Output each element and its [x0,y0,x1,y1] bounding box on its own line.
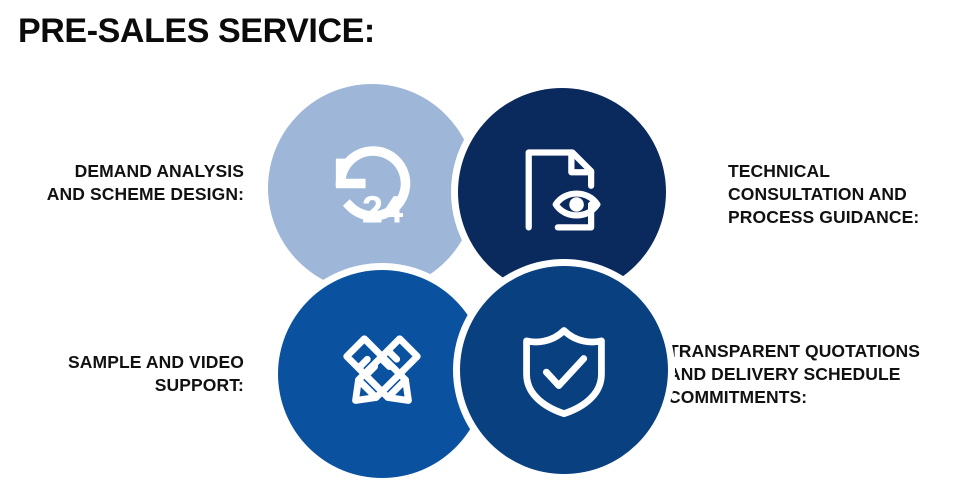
circle-transparent-quotations[interactable] [460,266,668,474]
page-title: PRE-SALES SERVICE: [18,12,375,51]
shield-check-icon [512,318,616,422]
label-demand-analysis: DEMAND ANALYSIS AND SCHEME DESIGN: [0,160,244,206]
crossed-pens-icon [330,322,434,426]
circle-sample-video-support[interactable] [278,270,486,478]
circle-cluster: 24 [268,84,668,482]
svg-text:24: 24 [362,190,403,232]
label-sample-video-support: SAMPLE AND VIDEO SUPPORT: [0,351,244,397]
circle-demand-analysis[interactable]: 24 [268,84,476,292]
label-technical-consultation: TECHNICAL CONSULTATION AND PROCESS GUIDA… [728,160,960,229]
document-eye-icon [510,140,614,244]
circle-technical-consultation[interactable] [458,88,666,296]
infographic-page: PRE-SALES SERVICE: 24 [0,0,960,498]
clock-24-rotate-icon: 24 [316,132,428,244]
label-transparent-quotations: TRANSPARENT QUOTATIONS AND DELIVERY SCHE… [668,340,960,409]
